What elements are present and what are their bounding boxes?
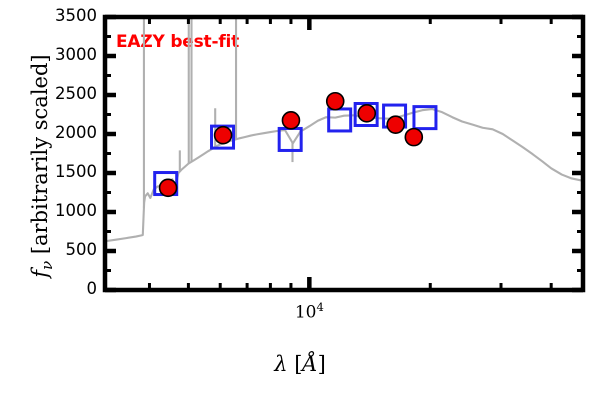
y-tick-label: 3000 [23, 45, 97, 64]
model-flux-square [329, 109, 351, 131]
observed-photometry-point [282, 112, 299, 129]
y-tick-label: 500 [23, 240, 97, 259]
y-tick-label: 3500 [23, 6, 97, 25]
observed-photometry-point [405, 129, 422, 146]
y-tick-label: 1000 [23, 201, 97, 220]
observed-photometry-point [160, 179, 177, 196]
observed-photometry-point [358, 105, 375, 122]
y-tick-label: 2500 [23, 84, 97, 103]
observed-photometry-point [215, 127, 232, 144]
photometry-markers-group [155, 93, 436, 197]
figure-canvas: fν [arbitrarily scaled] λ [Å] EAZY best-… [0, 0, 600, 400]
x-tick-label-10e4: 104 [269, 300, 349, 323]
spectrum-curve-group [105, 17, 583, 241]
y-tick-label: 2000 [23, 123, 97, 142]
axis-ticks-group [105, 17, 583, 290]
observed-photometry-point [327, 93, 344, 110]
axes-frame [105, 17, 583, 290]
y-tick-label: 1500 [23, 162, 97, 181]
y-tick-label: 0 [23, 279, 97, 298]
observed-photometry-point [387, 116, 404, 133]
